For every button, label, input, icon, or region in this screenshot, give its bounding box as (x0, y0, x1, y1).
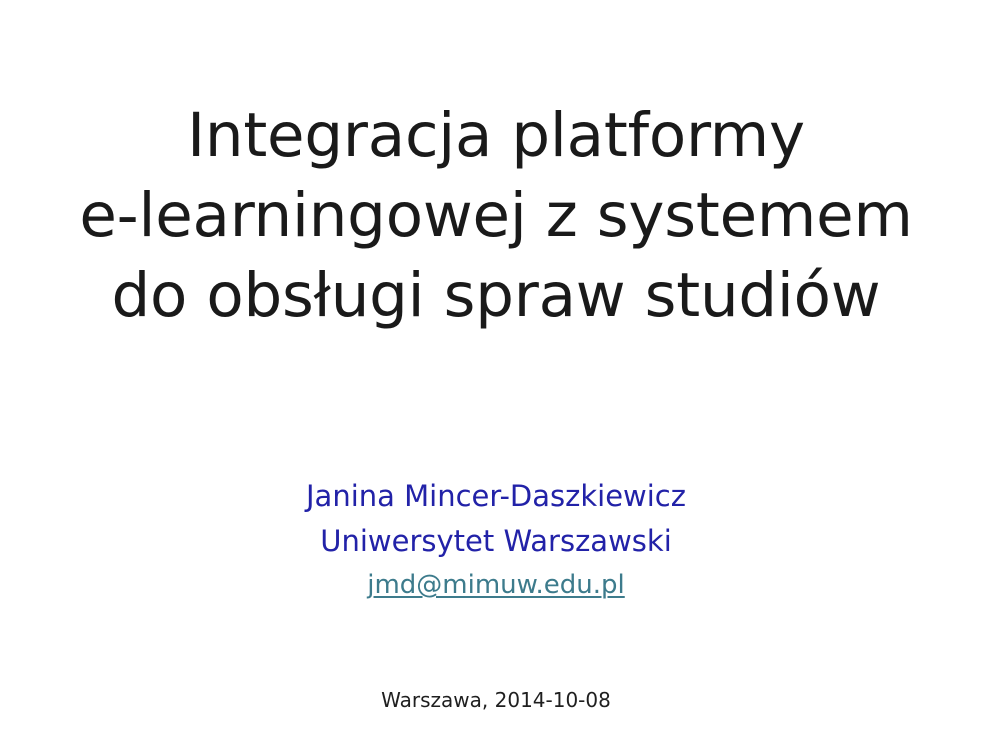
place-and-date: Warszawa, 2014-10-08 (0, 686, 992, 714)
title-line-3: do obsługi spraw studiów (0, 256, 992, 336)
title-line-1: Integracja platformy (0, 96, 992, 176)
author-email-link[interactable]: jmd@mimuw.edu.pl (367, 566, 625, 604)
author-affiliation: Uniwersytet Warszawski (0, 519, 992, 564)
presentation-title-slide: Integracja platformy e-learningowej z sy… (0, 0, 992, 744)
slide-title: Integracja platformy e-learningowej z sy… (0, 96, 992, 336)
title-line-2: e-learningowej z systemem (0, 176, 992, 256)
slide-footer: Warszawa, 2014-10-08 (0, 686, 992, 714)
author-name: Janina Mincer-Daszkiewicz (0, 474, 992, 519)
author-block: Janina Mincer-Daszkiewicz Uniwersytet Wa… (0, 474, 992, 604)
